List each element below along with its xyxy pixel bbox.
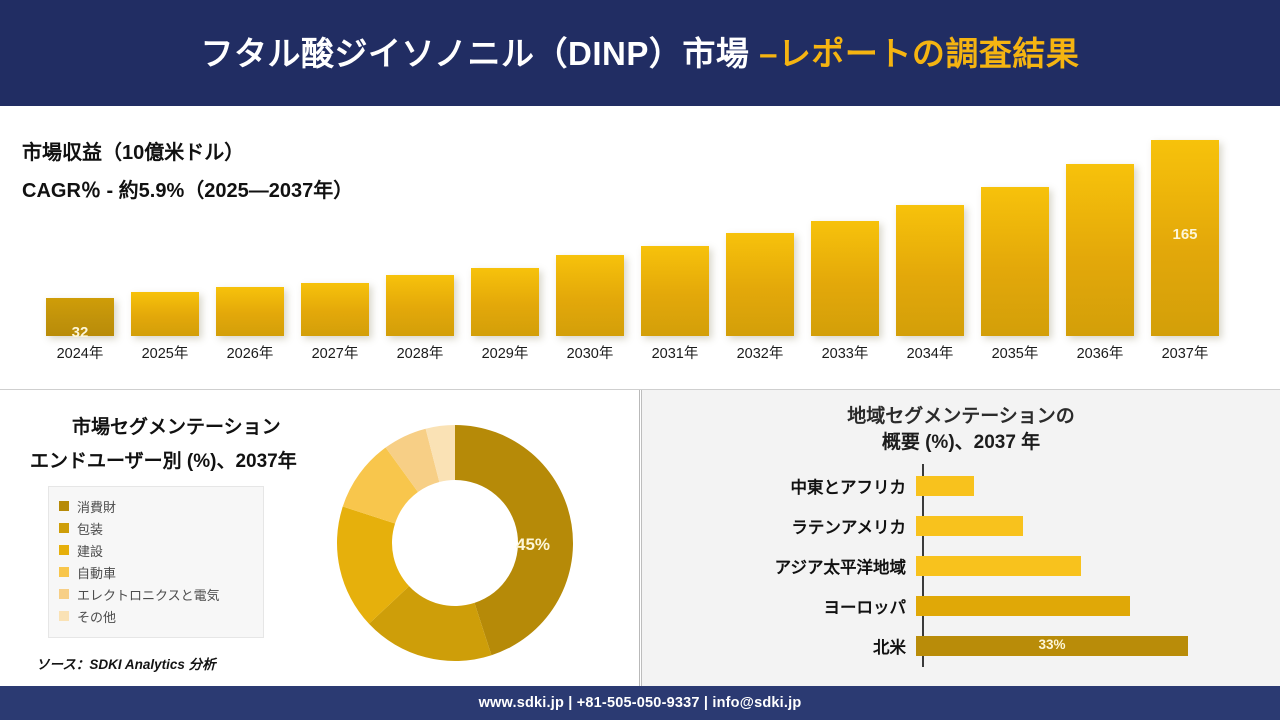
legend-label: 消費財	[77, 497, 116, 516]
legend-item-消費財: 消費財	[59, 495, 255, 517]
bar-rect	[216, 287, 284, 336]
revenue-bar-2024年: 32	[46, 298, 114, 336]
legend-label: 包装	[77, 519, 103, 538]
bar-rect	[811, 221, 879, 336]
bar-x-label: 2028年	[375, 342, 465, 363]
bar-x-label: 2036年	[1055, 342, 1145, 363]
footer-contact: www.sdki.jp | +81-505-050-9337 | info@sd…	[479, 695, 802, 711]
bar-x-label: 2026年	[205, 342, 295, 363]
page-title-main: フタル酸ジイソノニル（DINP）市場	[201, 35, 760, 72]
source-note: ソース：SDKI Analytics 分析	[36, 653, 216, 673]
bar-x-label: 2037年	[1140, 342, 1230, 363]
legend-swatch-icon	[59, 567, 69, 577]
bar-x-label: 2034年	[885, 342, 975, 363]
segmentation-donut-chart: 45%	[330, 418, 580, 668]
region-title-line1: 地域セグメンテーションの	[847, 406, 1075, 427]
region-panel: 地域セグメンテーションの 概要 (%)、2037 年 中東とアフリカラテンアメリ…	[641, 390, 1280, 686]
region-label: 北米	[642, 634, 914, 658]
bar-rect: 165	[1151, 140, 1219, 336]
bar-x-label: 2025年	[120, 342, 210, 363]
region-bar-plot: 中東とアフリカラテンアメリカアジア太平洋地域ヨーロッパ北米33%	[642, 462, 1280, 674]
revenue-bar-2025年	[131, 292, 199, 336]
region-bar	[916, 556, 1081, 576]
legend-item-エレクトロニクスと電気: エレクトロニクスと電気	[59, 583, 255, 605]
bar-rect	[556, 255, 624, 336]
region-label: 中東とアフリカ	[642, 474, 914, 498]
revenue-bar-2033年	[811, 221, 879, 336]
revenue-bar-2036年	[1066, 164, 1134, 336]
bar-rect	[981, 187, 1049, 336]
region-label: アジア太平洋地域	[642, 554, 914, 578]
segmentation-title-line2: エンドユーザー別 (%)、2037年	[30, 446, 297, 473]
revenue-bar-2030年	[556, 255, 624, 336]
revenue-bar-2027年	[301, 283, 369, 336]
revenue-bar-2026年	[216, 287, 284, 336]
bar-value-label: 165	[1151, 226, 1219, 243]
bar-x-label: 2031年	[630, 342, 720, 363]
bar-rect	[726, 233, 794, 336]
region-bar: 33%	[916, 636, 1188, 656]
region-bar-value-label: 33%	[916, 637, 1188, 652]
revenue-bar-plot: 322024年2025年2026年2027年2028年2029年2030年203…	[46, 128, 1236, 336]
legend-label: その他	[77, 607, 116, 626]
legend-item-その他: その他	[59, 605, 255, 627]
footer-bar: www.sdki.jp | +81-505-050-9337 | info@sd…	[0, 686, 1280, 720]
region-row-アジア太平洋地域: アジア太平洋地域	[642, 546, 1280, 586]
revenue-bar-2035年	[981, 187, 1049, 336]
revenue-bar-2037年: 165	[1151, 140, 1219, 336]
bar-x-label: 2030年	[545, 342, 635, 363]
page-title-accent: –レポートの調査結果	[759, 35, 1079, 72]
revenue-bar-2034年	[896, 205, 964, 336]
legend-swatch-icon	[59, 501, 69, 511]
region-label: ラテンアメリカ	[642, 514, 914, 538]
region-bar	[916, 476, 974, 496]
bar-x-label: 2027年	[290, 342, 380, 363]
segmentation-legend: 消費財包装建設自動車エレクトロニクスと電気その他	[48, 486, 264, 638]
bar-rect	[896, 205, 964, 336]
revenue-bar-2032年	[726, 233, 794, 336]
revenue-chart-section: 市場収益（10億米ドル） CAGR％ - 約5.9%（2025―2037年） 3…	[0, 106, 1280, 390]
bar-x-label: 2029年	[460, 342, 550, 363]
bar-x-label: 2033年	[800, 342, 890, 363]
region-label: ヨーロッパ	[642, 594, 914, 618]
bottom-panels: 市場セグメンテーション エンドユーザー別 (%)、2037年 消費財包装建設自動…	[0, 390, 1280, 686]
region-row-ラテンアメリカ: ラテンアメリカ	[642, 506, 1280, 546]
bar-rect: 32	[46, 298, 114, 336]
bar-rect	[641, 246, 709, 336]
region-bar	[916, 516, 1023, 536]
bar-rect	[131, 292, 199, 336]
donut-callout-label: 45%	[516, 535, 550, 555]
bar-x-label: 2024年	[35, 342, 125, 363]
legend-swatch-icon	[59, 589, 69, 599]
revenue-bar-chart: 322024年2025年2026年2027年2028年2029年2030年203…	[46, 128, 1236, 378]
segmentation-panel: 市場セグメンテーション エンドユーザー別 (%)、2037年 消費財包装建設自動…	[0, 390, 640, 686]
bar-rect	[301, 283, 369, 336]
bar-rect	[386, 275, 454, 336]
region-row-ヨーロッパ: ヨーロッパ	[642, 586, 1280, 626]
legend-swatch-icon	[59, 523, 69, 533]
region-title-line2: 概要 (%)、2037 年	[882, 432, 1040, 453]
header-banner: フタル酸ジイソノニル（DINP）市場 –レポートの調査結果	[0, 0, 1280, 106]
revenue-bar-2028年	[386, 275, 454, 336]
revenue-bar-2031年	[641, 246, 709, 336]
bar-rect	[471, 268, 539, 336]
region-title: 地域セグメンテーションの 概要 (%)、2037 年	[642, 404, 1280, 455]
bar-rect	[1066, 164, 1134, 336]
region-row-北米: 北米33%	[642, 626, 1280, 666]
legend-item-自動車: 自動車	[59, 561, 255, 583]
bar-x-label: 2032年	[715, 342, 805, 363]
infographic-page: フタル酸ジイソノニル（DINP）市場 –レポートの調査結果 市場収益（10億米ド…	[0, 0, 1280, 720]
region-bar	[916, 596, 1130, 616]
bar-value-label: 32	[46, 324, 114, 341]
revenue-bar-2029年	[471, 268, 539, 336]
legend-label: エレクトロニクスと電気	[77, 585, 220, 604]
page-title: フタル酸ジイソノニル（DINP）市場 –レポートの調査結果	[201, 37, 1080, 70]
region-row-中東とアフリカ: 中東とアフリカ	[642, 466, 1280, 506]
legend-swatch-icon	[59, 611, 69, 621]
legend-label: 建設	[77, 541, 103, 560]
segmentation-title-line1: 市場セグメンテーション	[72, 412, 281, 439]
legend-label: 自動車	[77, 563, 116, 582]
legend-swatch-icon	[59, 545, 69, 555]
legend-item-包装: 包装	[59, 517, 255, 539]
bar-x-label: 2035年	[970, 342, 1060, 363]
legend-item-建設: 建設	[59, 539, 255, 561]
